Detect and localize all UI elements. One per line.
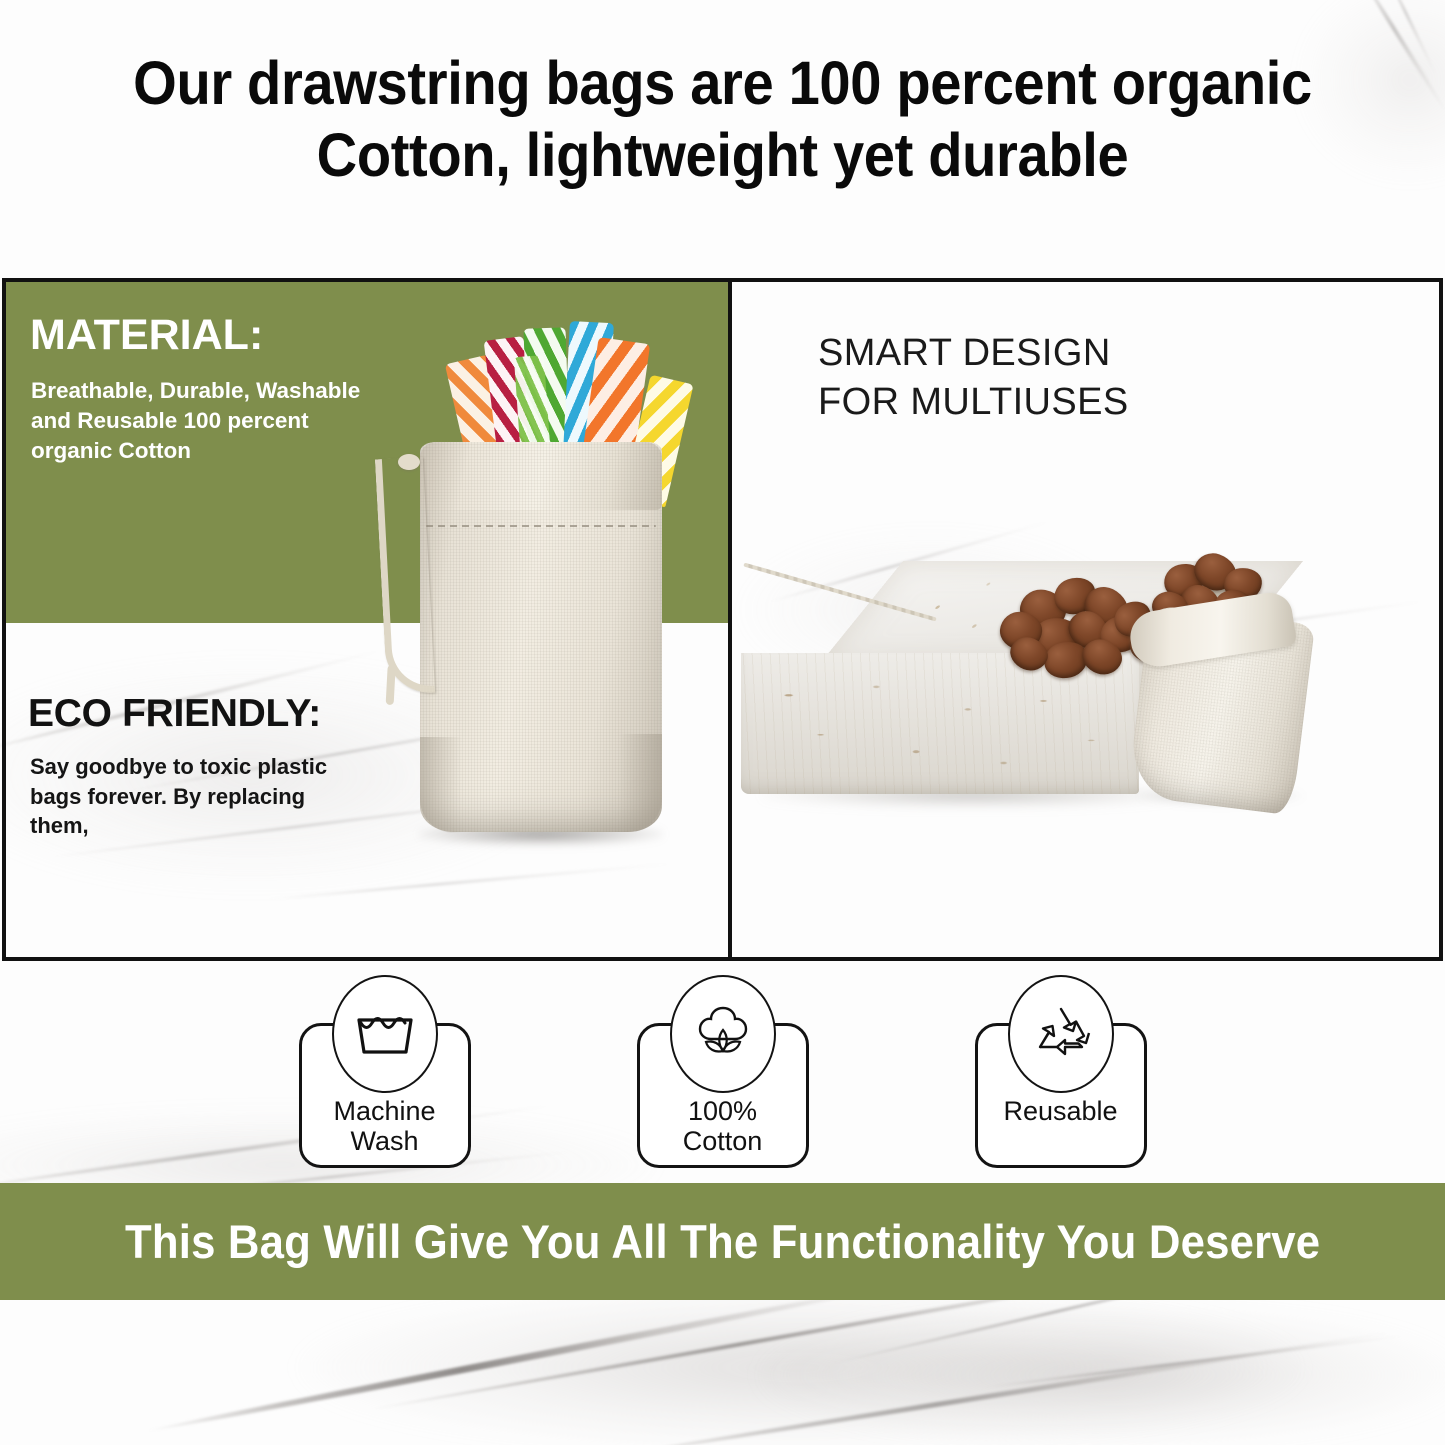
eco-friendly-title: ECO FRIENDLY:: [28, 694, 321, 733]
feature-badges: Machine Wash 100% Cotton: [0, 975, 1445, 1175]
badge-icon-circle: [670, 975, 776, 1093]
cotton-bag-fold-left: [420, 737, 462, 833]
stone-front-texture: [741, 653, 1139, 794]
material-title: MATERIAL:: [30, 314, 263, 357]
cotton-bag-stitch-line: [426, 525, 656, 527]
badge-label: 100% Cotton: [637, 1096, 809, 1156]
bottom-banner: This Bag Will Give You All The Functiona…: [0, 1183, 1445, 1300]
smart-design-title: SMART DESIGN FOR MULTIUSES: [818, 329, 1129, 426]
panel-left-material: MATERIAL: Breathable, Durable, Washable …: [6, 282, 732, 957]
recycle-icon: [1029, 1003, 1093, 1065]
wash-tub-icon: [354, 1010, 416, 1058]
smart-design-line-1: SMART DESIGN: [818, 332, 1111, 374]
badge-cotton[interactable]: 100% Cotton: [637, 975, 809, 1175]
cotton-bag-fold-right: [618, 734, 662, 832]
bottom-banner-text: This Bag Will Give You All The Functiona…: [125, 1214, 1320, 1269]
drawstring-knot: [398, 454, 420, 470]
badge-icon-circle: [1008, 975, 1114, 1093]
product-infographic: Our drawstring bags are 100 percent orga…: [0, 0, 1445, 1445]
material-body: Breathable, Durable, Washable and Reusab…: [31, 376, 381, 466]
headline: Our drawstring bags are 100 percent orga…: [58, 48, 1387, 192]
panel-right-smart-design: SMART DESIGN FOR MULTIUSES: [732, 282, 1439, 957]
badge-icon-circle: [332, 975, 438, 1093]
headline-line-1: Our drawstring bags are 100 percent orga…: [58, 48, 1387, 120]
smart-design-line-2: FOR MULTIUSES: [818, 381, 1129, 423]
eco-friendly-body: Say goodbye to toxic plastic bags foreve…: [30, 752, 350, 841]
badge-label: Reusable: [975, 1096, 1147, 1126]
badge-label: Machine Wash: [299, 1096, 471, 1156]
badge-reusable[interactable]: Reusable: [975, 975, 1147, 1175]
cereal-cotton-bag: [1128, 570, 1310, 808]
badge-machine-wash[interactable]: Machine Wash: [299, 975, 471, 1175]
cotton-bag-top-roll: [420, 442, 662, 510]
headline-line-2: Cotton, lightweight yet durable: [58, 120, 1387, 192]
feature-panels: MATERIAL: Breathable, Durable, Washable …: [2, 278, 1443, 961]
cotton-boll-icon: [690, 1004, 756, 1064]
